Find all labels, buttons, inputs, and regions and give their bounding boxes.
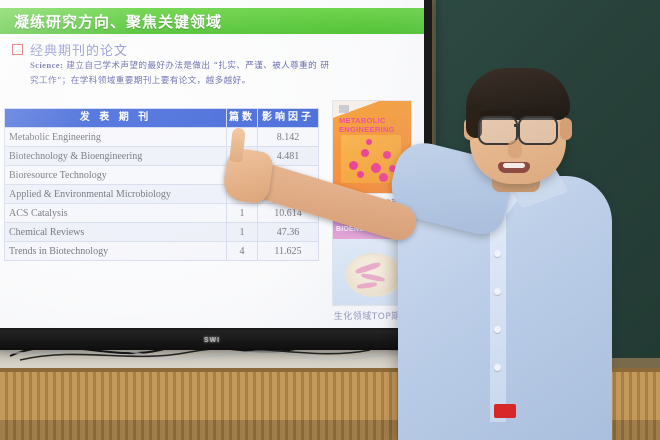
column-header-impact: 影响因子 (258, 109, 319, 128)
square-bullet-icon (12, 44, 23, 55)
table-row: Trends in Biotechnology411.625 (5, 242, 319, 261)
presentation-slide: 凝练研究方向、聚焦关键领域 经典期刊的论文 Science: 建立自己学术声望的… (0, 0, 424, 328)
cell-journal: Bioresource Technology (5, 166, 227, 185)
cell-count: 1 (227, 223, 258, 242)
cell-impact-factor: 47.36 (258, 223, 319, 242)
paragraph-line-1: 建立自己学术声望的最好办法是做出 “扎实、严谨、被人尊重的 (66, 61, 317, 71)
presenter-badge (494, 404, 516, 418)
cell-count: 1 (227, 204, 258, 223)
cell-journal: Trends in Biotechnology (5, 242, 227, 261)
cell-journal: ACS Catalysis (5, 204, 227, 223)
petri-dish-icon (345, 253, 403, 297)
cover-title-1: METABOLIC ENGINEERING (339, 117, 409, 134)
presenter-nose (508, 140, 522, 158)
slide-paragraph: Science: 建立自己学术声望的最好办法是做出 “扎实、严谨、被人尊重的 研… (30, 58, 330, 88)
presenter-teeth (503, 163, 525, 168)
cell-journal: Metabolic Engineering (5, 128, 227, 147)
ear-right (560, 118, 572, 140)
eyeglass-lens-right (518, 116, 558, 145)
projection-screen[interactable]: 凝练研究方向、聚焦关键领域 经典期刊的论文 Science: 建立自己学术声望的… (0, 0, 424, 328)
column-header-count: 篇数 (227, 109, 258, 128)
paragraph-lead: Science: (30, 60, 63, 70)
smartboard-control-bar[interactable]: SWI (0, 330, 432, 350)
table-row: Metabolic Engineering88.142 (5, 128, 319, 147)
cover-title-1-line2: ENGINEERING (339, 125, 395, 134)
table-row: Chemical Reviews147.36 (5, 223, 319, 242)
lecture-scene: SWI 凝练研究方向、聚焦关键领域 经典期刊的论文 Science: 建立自己学… (0, 0, 660, 440)
slide-bullet-heading: 经典期刊的论文 (12, 40, 128, 59)
table-row: ACS Catalysis110.614 (5, 204, 319, 223)
table-header-row: 发 表 期 刊 篇数 影响因子 (5, 109, 319, 128)
cell-journal: Chemical Reviews (5, 223, 227, 242)
cell-journal: Applied & Environmental Microbiology (5, 185, 227, 204)
cell-impact-factor: 8.142 (258, 128, 319, 147)
cell-impact-factor: 11.625 (258, 242, 319, 261)
cell-count: 4 (227, 242, 258, 261)
publisher-logo-icon (339, 105, 349, 113)
slide-title: 凝练研究方向、聚焦关键领域 (14, 11, 222, 32)
slide-bullet-label: 经典期刊的论文 (30, 40, 128, 59)
cell-journal: Biotechnology & Bioengineering (5, 147, 227, 166)
eyeglass-bridge (514, 124, 520, 127)
column-header-journal: 发 表 期 刊 (5, 109, 227, 128)
smartboard-brand-label: SWI (204, 337, 220, 344)
